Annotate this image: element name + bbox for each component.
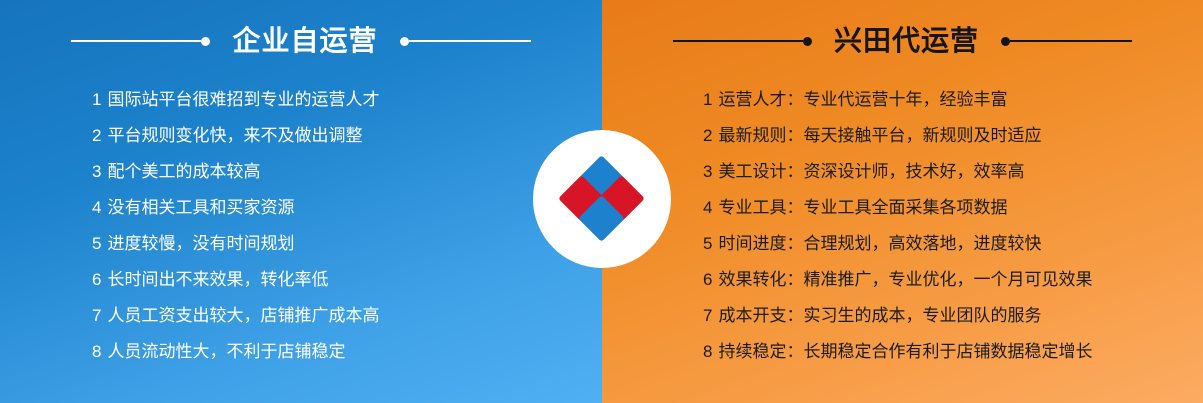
list-item: 4 没有相关工具和买家资源 — [92, 190, 379, 226]
list-item-label: 专业工具：专业工具全面采集各项数据 — [718, 190, 1007, 226]
left-panel-list: 1 国际站平台很难招到专业的运营人才 2 平台规则变化快，来不及做出调整 3 配… — [92, 82, 379, 370]
list-item-label: 平台规则变化快，来不及做出调整 — [107, 118, 362, 154]
list-item: 1 国际站平台很难招到专业的运营人才 — [92, 82, 379, 118]
list-item: 4 专业工具：专业工具全面采集各项数据 — [703, 190, 1092, 226]
left-panel-header: 企业自运营 — [0, 18, 602, 64]
list-item-number: 3 — [703, 154, 712, 190]
list-item: 5 时间进度：合理规划，高效落地，进度较快 — [703, 226, 1092, 262]
list-item: 3 配个美工的成本较高 — [92, 154, 379, 190]
list-item-label: 成本开支：实习生的成本，专业团队的服务 — [718, 298, 1041, 334]
list-item: 2 最新规则：每天接触平台，新规则及时适应 — [703, 118, 1092, 154]
list-item-number: 1 — [92, 82, 101, 118]
list-item-label: 国际站平台很难招到专业的运营人才 — [107, 82, 379, 118]
list-item: 7 成本开支：实习生的成本，专业团队的服务 — [703, 298, 1092, 334]
list-item: 6 长时间出不来效果，转化率低 — [92, 262, 379, 298]
center-logo-badge — [533, 130, 671, 268]
header-rule-right — [409, 40, 531, 42]
list-item-number: 7 — [703, 298, 712, 334]
list-item: 7 人员工资支出较大，店铺推广成本高 — [92, 298, 379, 334]
list-item-label: 长时间出不来效果，转化率低 — [107, 262, 328, 298]
list-item-number: 6 — [92, 262, 101, 298]
list-item-label: 效果转化：精准推广，专业优化，一个月可见效果 — [718, 262, 1092, 298]
list-item-label: 持续稳定：长期稳定合作有利于店铺数据稳定增长 — [718, 334, 1092, 370]
header-rule-left — [71, 40, 201, 42]
list-item-label: 没有相关工具和买家资源 — [107, 190, 294, 226]
list-item-number: 8 — [92, 334, 101, 370]
right-panel-title: 兴田代运营 — [818, 27, 995, 55]
list-item-number: 2 — [703, 118, 712, 154]
list-item: 6 效果转化：精准推广，专业优化，一个月可见效果 — [703, 262, 1092, 298]
list-item-label: 美工设计：资深设计师，技术好，效率高 — [718, 154, 1024, 190]
header-dot-left — [201, 37, 210, 46]
list-item: 8 人员流动性大，不利于店铺稳定 — [92, 334, 379, 370]
list-item: 5 进度较慢，没有时间规划 — [92, 226, 379, 262]
list-item-number: 5 — [92, 226, 101, 262]
right-panel-header: 兴田代运营 — [602, 18, 1203, 64]
list-item: 3 美工设计：资深设计师，技术好，效率高 — [703, 154, 1092, 190]
list-item: 8 持续稳定：长期稳定合作有利于店铺数据稳定增长 — [703, 334, 1092, 370]
header-dot-right — [400, 37, 409, 46]
header-dot-left — [803, 37, 812, 46]
header-dot-right — [1001, 37, 1010, 46]
list-item-label: 人员流动性大，不利于店铺稳定 — [107, 334, 345, 370]
header-rule-right — [1010, 40, 1132, 42]
panel-agency-operation: 兴田代运营 1 运营人才：专业代运营十年，经验丰富 2 最新规则：每天接触平台，… — [602, 0, 1203, 403]
list-item-label: 进度较慢，没有时间规划 — [107, 226, 294, 262]
panel-self-operation: 企业自运营 1 国际站平台很难招到专业的运营人才 2 平台规则变化快，来不及做出… — [0, 0, 602, 403]
list-item-number: 2 — [92, 118, 101, 154]
list-item-number: 7 — [92, 298, 101, 334]
list-item-label: 时间进度：合理规划，高效落地，进度较快 — [718, 226, 1041, 262]
list-item-number: 3 — [92, 154, 101, 190]
right-panel-list: 1 运营人才：专业代运营十年，经验丰富 2 最新规则：每天接触平台，新规则及时适… — [703, 82, 1092, 370]
comparison-poster: 企业自运营 1 国际站平台很难招到专业的运营人才 2 平台规则变化快，来不及做出… — [0, 0, 1203, 403]
left-panel-title: 企业自运营 — [216, 27, 393, 55]
list-item: 2 平台规则变化快，来不及做出调整 — [92, 118, 379, 154]
list-item-label: 最新规则：每天接触平台，新规则及时适应 — [718, 118, 1041, 154]
list-item-number: 5 — [703, 226, 712, 262]
list-item-number: 4 — [703, 190, 712, 226]
list-item-number: 6 — [703, 262, 712, 298]
list-item-label: 人员工资支出较大，店铺推广成本高 — [107, 298, 379, 334]
list-item-number: 4 — [92, 190, 101, 226]
diamond-logo-icon — [565, 162, 639, 236]
header-rule-left — [673, 40, 803, 42]
list-item-label: 运营人才：专业代运营十年，经验丰富 — [718, 82, 1007, 118]
list-item-label: 配个美工的成本较高 — [107, 154, 260, 190]
list-item-number: 1 — [703, 82, 712, 118]
list-item-number: 8 — [703, 334, 712, 370]
list-item: 1 运营人才：专业代运营十年，经验丰富 — [703, 82, 1092, 118]
